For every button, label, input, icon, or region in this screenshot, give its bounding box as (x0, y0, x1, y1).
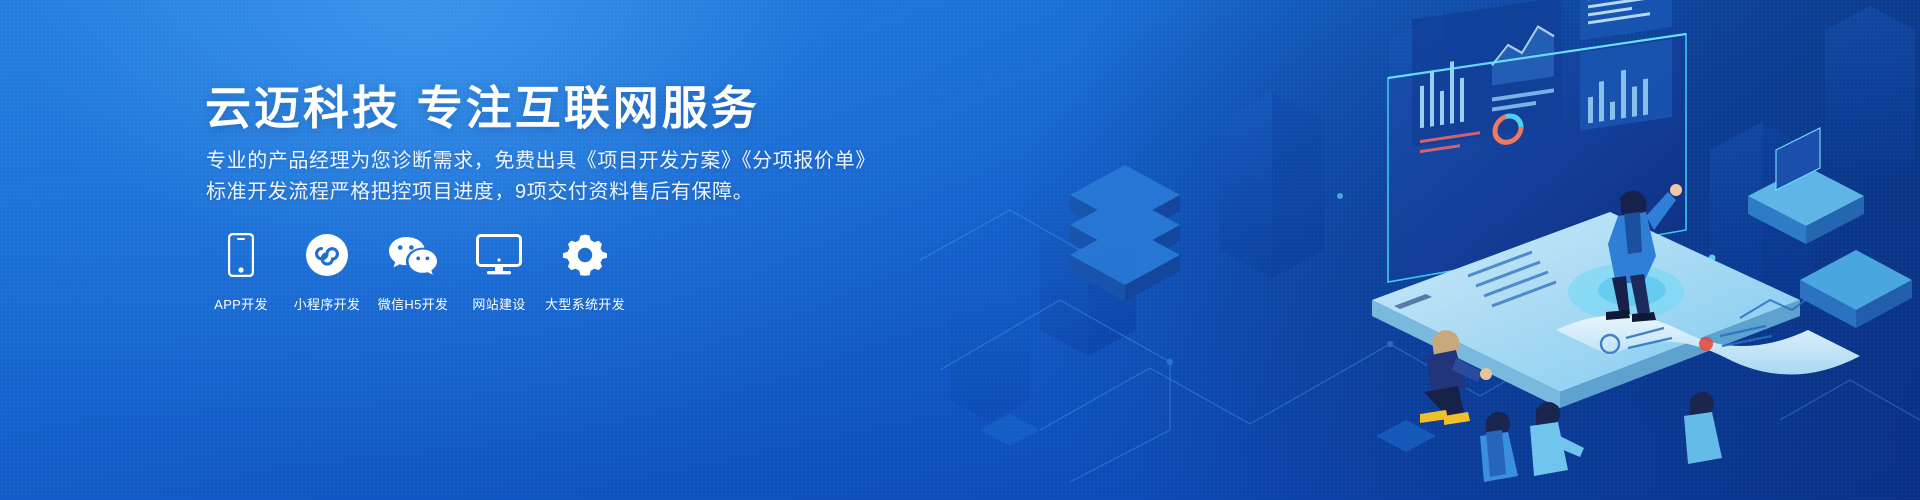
service-label: 微信H5开发 (378, 294, 448, 313)
banner-content: 云迈科技 专注互联网服务 专业的产品经理为您诊断需求，免费出具《项目开发方案》《… (205, 0, 925, 500)
isometric-tech-illustration (920, 0, 1920, 500)
service-item-wechat-h5[interactable]: 微信H5开发 (377, 232, 449, 313)
service-label: 网站建设 (472, 294, 525, 313)
service-item-large-system[interactable]: 大型系统开发 (549, 232, 621, 313)
page-title: 云迈科技 专注互联网服务 (205, 72, 760, 138)
subtitle-block: 专业的产品经理为您诊断需求，免费出具《项目开发方案》《分项报价单》 标准开发流程… (206, 146, 876, 208)
illustration-svg (920, 0, 1920, 500)
service-label: APP开发 (214, 294, 268, 313)
service-label: 小程序开发 (294, 294, 361, 313)
people-pair-graphic (1480, 392, 1722, 482)
mobile-phone-icon (228, 232, 254, 278)
service-item-website[interactable]: 网站建设 (463, 232, 535, 313)
service-item-app[interactable]: APP开发 (205, 232, 277, 313)
gear-icon (563, 232, 607, 278)
subtitle-line-2: 标准开发流程严格把控项目进度，9项交付资料售后有保障。 (206, 177, 876, 208)
mini-program-icon (305, 232, 349, 278)
monitor-icon (476, 232, 522, 278)
service-list: APP开发 小程序开发 (205, 232, 621, 313)
service-label: 大型系统开发 (545, 294, 625, 313)
subtitle-line-1: 专业的产品经理为您诊断需求，免费出具《项目开发方案》《分项报价单》 (206, 146, 876, 177)
service-item-mini-program[interactable]: 小程序开发 (291, 232, 363, 313)
cube-platform-graphic (1800, 250, 1912, 328)
hero-banner: 云迈科技 专注互联网服务 专业的产品经理为您诊断需求，免费出具《项目开发方案》《… (0, 0, 1920, 500)
wechat-icon (388, 232, 438, 278)
